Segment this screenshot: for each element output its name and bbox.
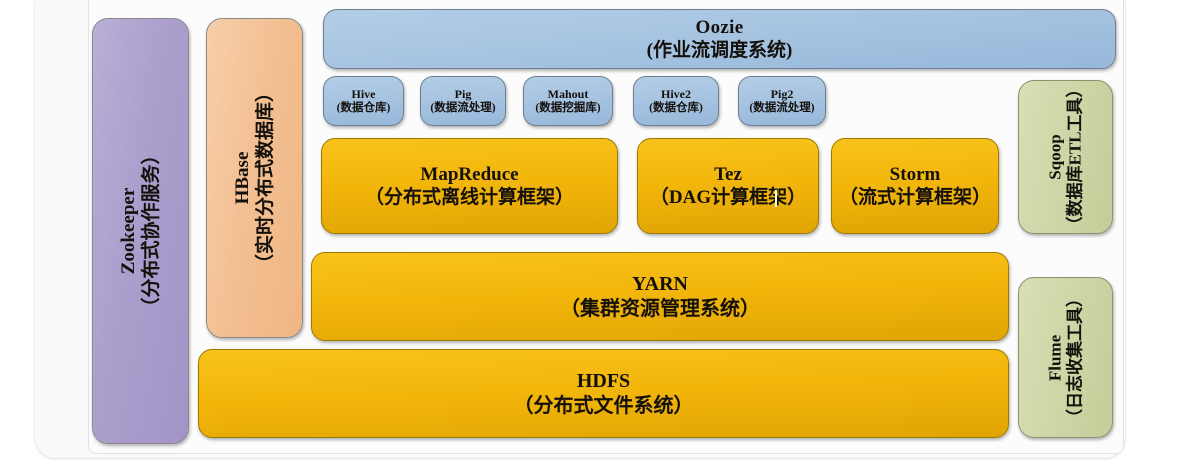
zookeeper-title: Zookeeper (118, 188, 141, 275)
hdfs-layer[interactable]: HDFS （分布式文件系统） (198, 349, 1009, 438)
oozie-bar[interactable]: Oozie (作业流调度系统) (323, 9, 1116, 69)
sqoop-title: Sqoop (1045, 134, 1065, 179)
zookeeper-subtitle: （分布式协作服务） (141, 145, 164, 316)
tool-pill-hive2[interactable]: Hive2 (数据仓库) (633, 76, 719, 126)
tool-pill-hive-subtitle: (数据仓库) (337, 101, 391, 115)
framework-tez-subtitle: （DAG计算框架） (650, 186, 806, 209)
tool-pill-pig-subtitle: (数据流处理) (430, 101, 495, 115)
diagram-canvas: Zookeeper （分布式协作服务） HBase （实时分布式数据库） Ooz… (0, 0, 1186, 476)
framework-mapreduce-subtitle: （分布式离线计算框架） (365, 186, 574, 209)
hbase-title: HBase (232, 152, 255, 205)
flume-title: Flume (1045, 334, 1065, 380)
oozie-title: Oozie (696, 16, 744, 39)
zookeeper-column[interactable]: Zookeeper （分布式协作服务） (92, 18, 189, 444)
framework-mapreduce[interactable]: MapReduce （分布式离线计算框架） (321, 138, 618, 234)
tool-pill-pig2[interactable]: Pig2 (数据流处理) (738, 76, 826, 126)
hdfs-subtitle: （分布式文件系统） (514, 394, 694, 418)
tool-pill-mahout-subtitle: (数据挖掘库) (535, 101, 600, 115)
yarn-title: YARN (632, 272, 688, 296)
tool-pill-pig2-title: Pig2 (771, 87, 794, 102)
framework-mapreduce-title: MapReduce (420, 163, 518, 186)
framework-tez[interactable]: Tez （DAG计算框架） (637, 138, 819, 234)
hdfs-title: HDFS (577, 369, 630, 393)
flume-subtitle: （日志收集工具） (1066, 290, 1086, 426)
yarn-subtitle: （集群资源管理系统） (560, 297, 760, 321)
oozie-subtitle: (作业流调度系统) (647, 39, 793, 62)
text-caret (775, 190, 777, 207)
yarn-layer[interactable]: YARN （集群资源管理系统） (311, 252, 1009, 341)
tool-pill-pig-title: Pig (455, 87, 472, 102)
tool-pill-hive2-subtitle: (数据仓库) (649, 101, 703, 115)
tool-pill-hive[interactable]: Hive (数据仓库) (323, 76, 404, 126)
hbase-column[interactable]: HBase （实时分布式数据库） (206, 18, 303, 338)
framework-storm[interactable]: Storm （流式计算框架） (831, 138, 999, 234)
framework-storm-title: Storm (890, 163, 941, 186)
tool-pill-mahout[interactable]: Mahout (数据挖掘库) (523, 76, 613, 126)
tool-pill-pig2-subtitle: (数据流处理) (749, 101, 814, 115)
hbase-subtitle: （实时分布式数据库） (255, 83, 278, 273)
sqoop-subtitle: （数据库ETL工具） (1066, 80, 1086, 233)
framework-tez-title: Tez (714, 163, 742, 186)
flume-column[interactable]: Flume （日志收集工具） (1018, 277, 1113, 438)
tool-pill-hive-title: Hive (352, 87, 376, 102)
sqoop-column[interactable]: Sqoop （数据库ETL工具） (1018, 80, 1113, 234)
tool-pill-pig[interactable]: Pig (数据流处理) (420, 76, 506, 126)
framework-storm-subtitle: （流式计算框架） (839, 186, 991, 209)
tool-pill-mahout-title: Mahout (548, 87, 589, 102)
tool-pill-hive2-title: Hive2 (661, 87, 691, 102)
